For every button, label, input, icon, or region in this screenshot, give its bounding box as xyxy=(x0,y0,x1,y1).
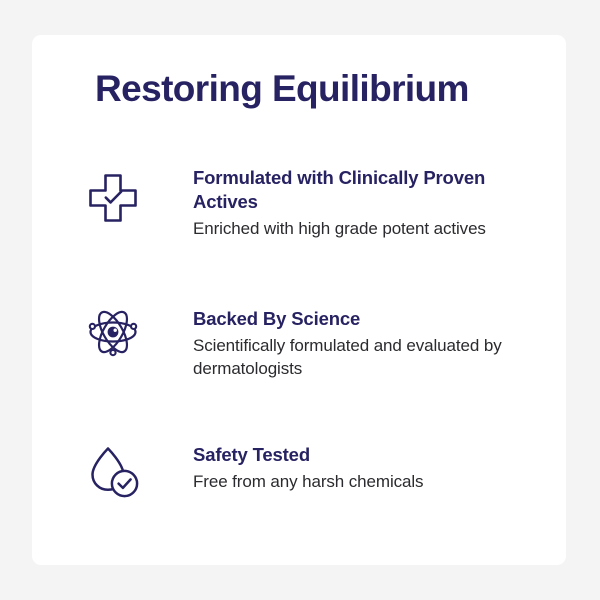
feature-item-safety: Safety Tested Free from any harsh chemic… xyxy=(32,437,566,527)
medical-cross-check-icon xyxy=(84,169,142,227)
feature-heading: Backed By Science xyxy=(193,307,511,331)
feature-text-container: Backed By Science Scientifically formula… xyxy=(193,301,566,380)
feature-icon-container xyxy=(32,165,193,227)
atom-icon xyxy=(84,303,142,361)
feature-description: Scientifically formulated and evaluated … xyxy=(193,334,513,380)
feature-text-container: Safety Tested Free from any harsh chemic… xyxy=(193,437,566,493)
feature-card: Restoring Equilibrium Formulated with Cl… xyxy=(32,35,566,565)
feature-item-science: Backed By Science Scientifically formula… xyxy=(32,301,566,391)
feature-heading: Formulated with Clinically Proven Active… xyxy=(193,166,511,214)
feature-list: Formulated with Clinically Proven Active… xyxy=(32,165,566,527)
page-root: Restoring Equilibrium Formulated with Cl… xyxy=(0,0,600,600)
water-drop-check-icon xyxy=(84,443,142,501)
feature-item-formulated: Formulated with Clinically Proven Active… xyxy=(32,165,566,255)
feature-text-container: Formulated with Clinically Proven Active… xyxy=(193,165,566,240)
feature-description: Enriched with high grade potent actives xyxy=(193,217,513,240)
feature-icon-container xyxy=(32,437,193,501)
feature-icon-container xyxy=(32,301,193,361)
feature-heading: Safety Tested xyxy=(193,443,511,467)
page-title: Restoring Equilibrium xyxy=(95,67,545,111)
feature-description: Free from any harsh chemicals xyxy=(193,470,513,493)
